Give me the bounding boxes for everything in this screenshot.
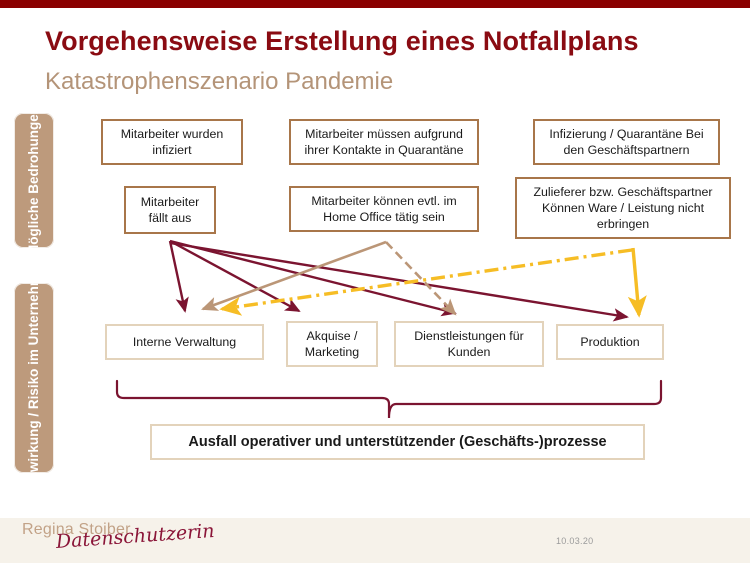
threat-box-supplier: Zulieferer bzw. Geschäftspartner Können … bbox=[515, 177, 731, 239]
page-subtitle: Katastrophenszenario Pandemie bbox=[45, 68, 393, 96]
arrow-group-yellow bbox=[222, 248, 639, 315]
process-box-produktion: Produktion bbox=[556, 324, 664, 360]
process-box-akquise: Akquise / Marketing bbox=[286, 321, 378, 367]
side-band-threats: Mögliche Bedrohungen bbox=[14, 113, 54, 248]
threat-box-infected: Mitarbeiter wurden infiziert bbox=[101, 119, 243, 165]
process-box-verwaltung: Interne Verwaltung bbox=[105, 324, 264, 360]
threat-box-homeoffice: Mitarbeiter können evtl. im Home Office … bbox=[289, 186, 479, 232]
arrow-group-dark-red bbox=[170, 241, 627, 317]
page-title: Vorgehensweise Erstellung eines Notfallp… bbox=[45, 26, 639, 57]
side-band-impact-label: Auswirkung / Risiko im Unternehmen bbox=[26, 258, 42, 497]
footer-date: 10.03.20 bbox=[556, 536, 593, 546]
process-box-dienstleistungen: Dienstleistungen für Kunden bbox=[394, 321, 544, 367]
threat-box-dropout: Mitarbeiter fällt aus bbox=[124, 186, 216, 234]
side-band-impact: Auswirkung / Risiko im Unternehmen bbox=[14, 283, 54, 473]
side-band-threats-label: Mögliche Bedrohungen bbox=[26, 106, 42, 256]
summary-box: Ausfall operativer und unterstützender (… bbox=[150, 424, 645, 460]
top-accent-band bbox=[0, 0, 750, 8]
threat-box-partner-quarantine: Infizierung / Quarantäne Bei den Geschäf… bbox=[533, 119, 720, 165]
summary-brace bbox=[117, 381, 661, 418]
slide-canvas: Vorgehensweise Erstellung eines Notfallp… bbox=[0, 0, 750, 563]
threat-box-quarantine: Mitarbeiter müssen aufgrund ihrer Kontak… bbox=[289, 119, 479, 165]
arrow-group-tan bbox=[203, 242, 455, 314]
